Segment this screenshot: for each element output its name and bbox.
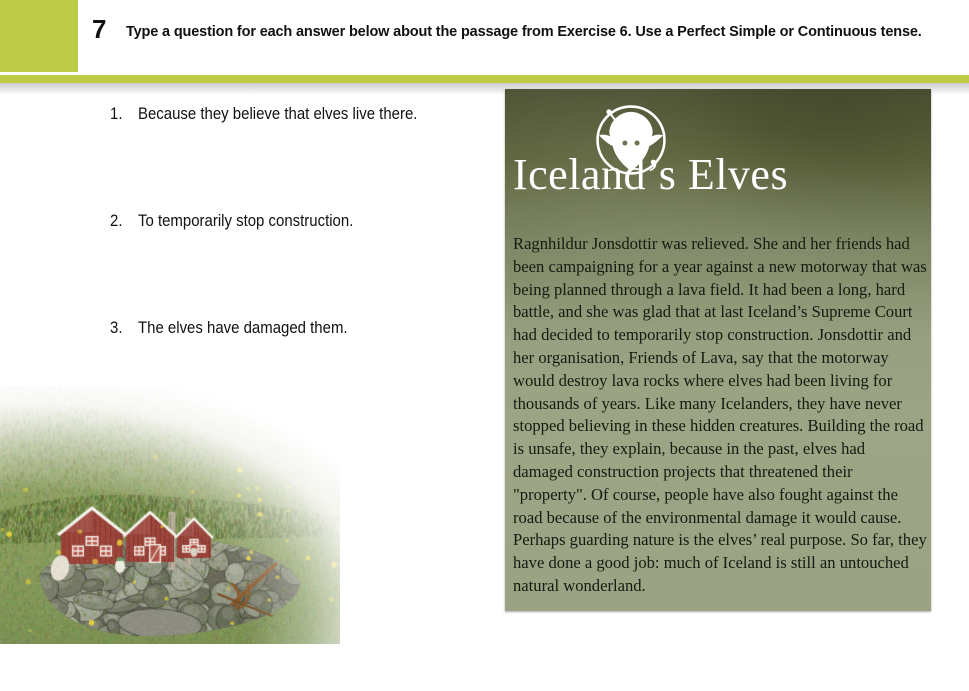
exercise-header: 7 Type a question for each answer below … — [0, 0, 969, 75]
elf-houses-photo — [0, 386, 340, 644]
header-accent-block — [0, 0, 78, 72]
answers-list: 1. Because they believe that elves live … — [110, 104, 490, 425]
answer-number: 2. — [110, 211, 135, 231]
list-item[interactable]: 2. To temporarily stop construction. — [110, 211, 490, 318]
list-item[interactable]: 1. Because they believe that elves live … — [110, 104, 490, 211]
exercise-number: 7 — [92, 14, 106, 45]
header-divider-rule — [0, 75, 969, 83]
exercise-instruction: Type a question for each answer below ab… — [126, 22, 931, 43]
answer-text: The elves have damaged them. — [138, 318, 348, 338]
elf-houses-photo-canvas — [0, 386, 340, 644]
article-panel: Iceland’s Elves Ragnhildur Jonsdottir wa… — [505, 89, 931, 611]
article-body-text: Ragnhildur Jonsdottir was relieved. She … — [513, 233, 927, 598]
answer-text: Because they believe that elves live the… — [138, 104, 417, 124]
answer-number: 1. — [110, 104, 135, 124]
answer-number: 3. — [110, 318, 135, 338]
answer-text: To temporarily stop construction. — [138, 211, 353, 231]
article-title: Iceland’s Elves — [513, 149, 931, 200]
article-panel-header: Iceland’s Elves — [505, 89, 931, 219]
